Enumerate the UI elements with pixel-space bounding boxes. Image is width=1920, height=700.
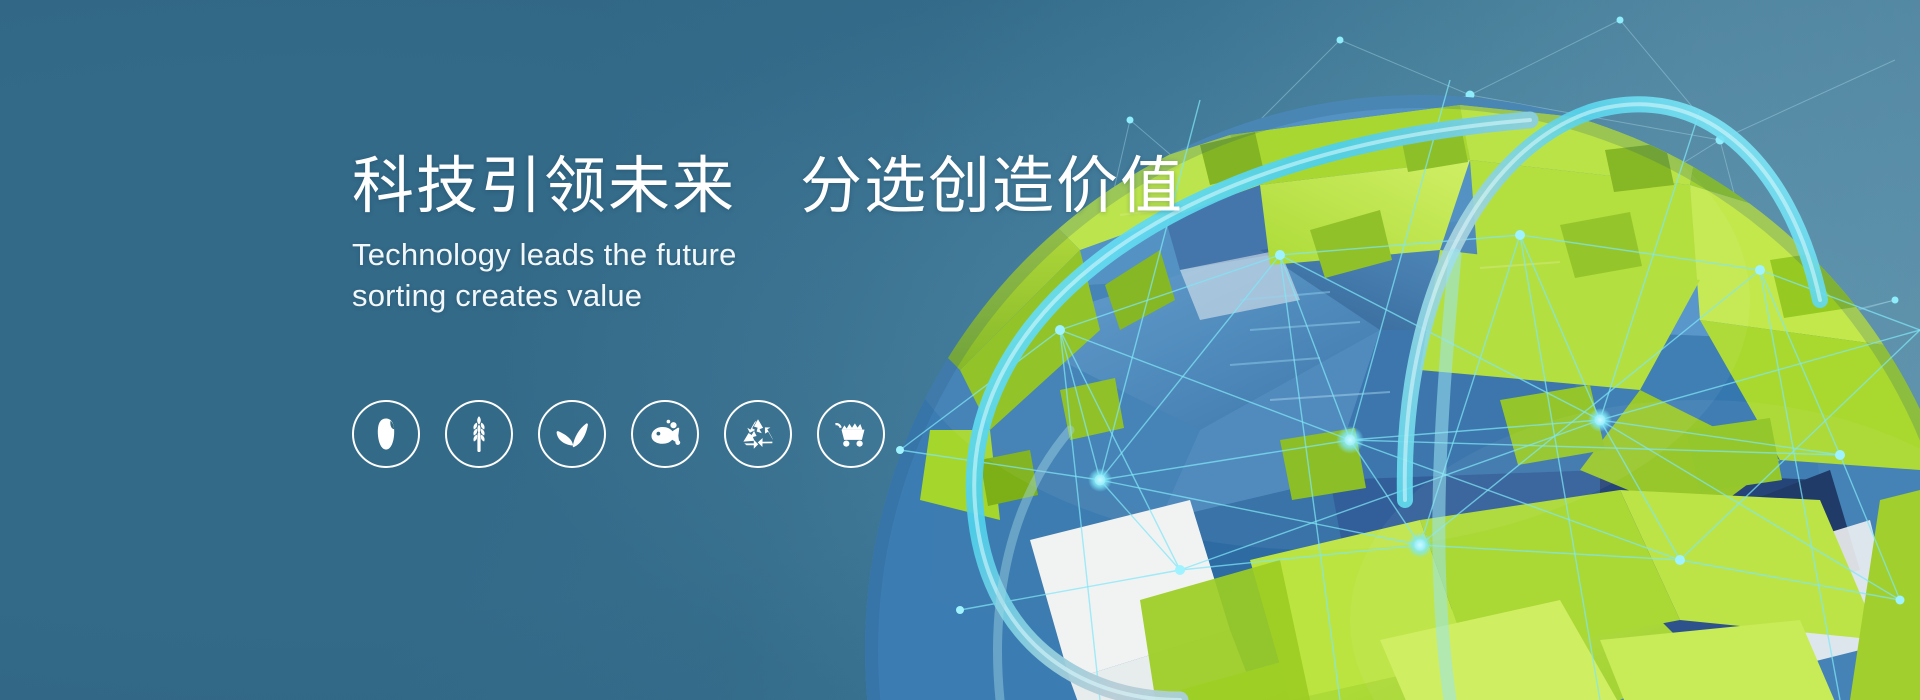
rice-grain-icon <box>371 417 401 451</box>
mining-cart-icon <box>832 418 870 450</box>
icon-badge-wheat[interactable] <box>445 400 513 468</box>
hero-banner: 科技引领未来 分选创造价值 Technology leads the futur… <box>0 0 1920 700</box>
subtitle: Technology leads the future sorting crea… <box>352 235 1132 316</box>
icon-badge-tea-leaf[interactable] <box>538 400 606 468</box>
banner-copy: 科技引领未来 分选创造价值 Technology leads the futur… <box>352 152 1132 316</box>
recycle-icon <box>740 417 776 451</box>
subtitle-line-1: Technology leads the future <box>352 235 1132 275</box>
globe-graphic <box>0 0 1920 700</box>
low-poly-globe-illustration <box>0 0 1920 700</box>
tea-leaf-icon <box>553 418 591 450</box>
icon-badge-recycle[interactable] <box>724 400 792 468</box>
fish-icon <box>646 418 684 450</box>
page-title: 科技引领未来 分选创造价值 <box>352 152 1132 221</box>
subtitle-line-2: sorting creates value <box>352 276 1132 316</box>
icon-badge-fish[interactable] <box>631 400 699 468</box>
wheat-icon <box>462 415 496 453</box>
icon-badge-mining-cart[interactable] <box>817 400 885 468</box>
icon-badge-rice-grain[interactable] <box>352 400 420 468</box>
industry-icon-row <box>352 400 885 468</box>
